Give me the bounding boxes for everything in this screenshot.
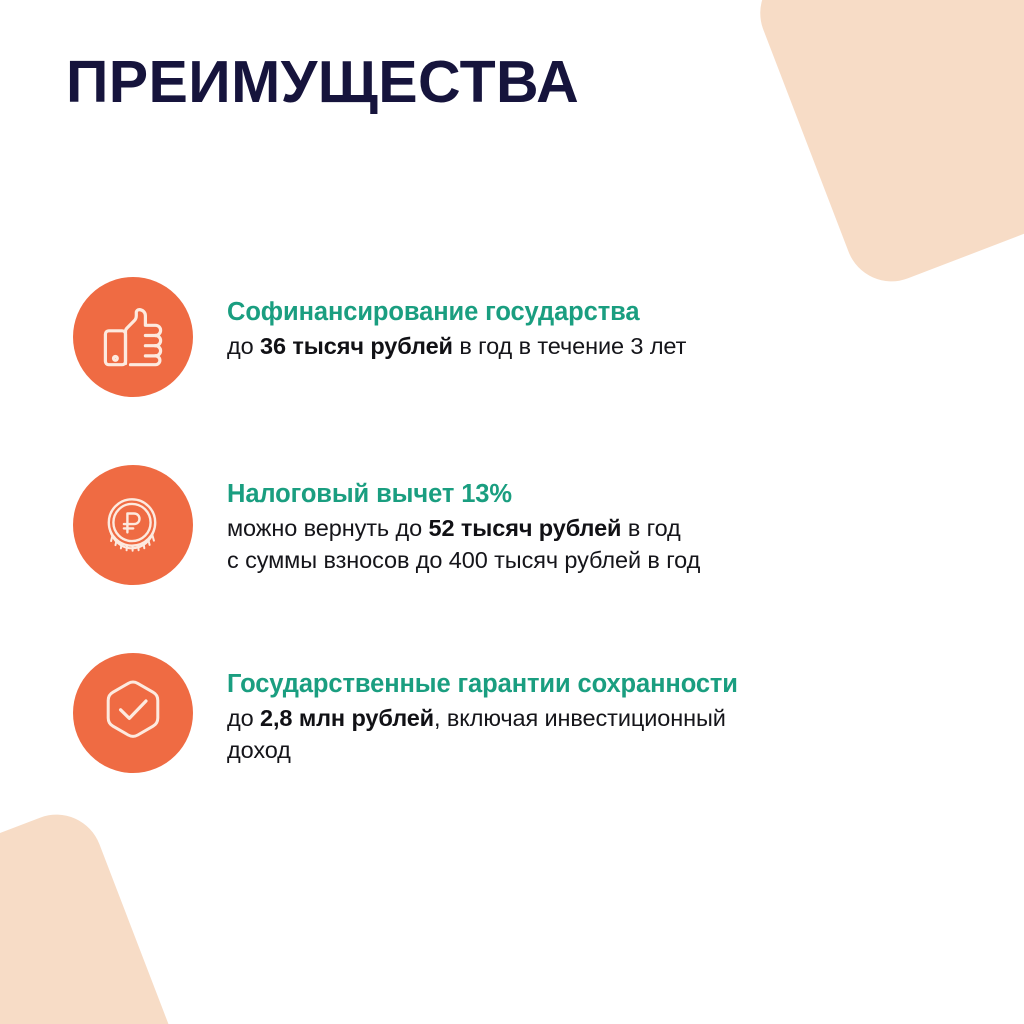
benefit-heading: Государственные гарантии сохранности bbox=[227, 669, 738, 700]
benefits-list: Софинансирование государства до 36 тысяч… bbox=[73, 277, 973, 773]
thumbs-up-icon bbox=[97, 301, 169, 373]
benefit-icon-badge bbox=[73, 277, 193, 397]
benefit-text-block: Софинансирование государства до 36 тысяч… bbox=[193, 277, 686, 363]
benefit-line: до 2,8 млн рублей, включая инвестиционны… bbox=[227, 703, 738, 735]
benefit-heading: Софинансирование государства bbox=[227, 297, 686, 328]
decor-bottom-left-shape bbox=[0, 801, 201, 1024]
decor-top-right-shape bbox=[747, 0, 1024, 295]
benefit-line: доход bbox=[227, 735, 738, 767]
benefit-item: Налоговый вычет 13% можно вернуть до 52 … bbox=[73, 465, 973, 585]
benefit-line: до 36 тысяч рублей в год в течение 3 лет bbox=[227, 331, 686, 363]
benefit-item: Софинансирование государства до 36 тысяч… bbox=[73, 277, 973, 397]
benefit-item: Государственные гарантии сохранности до … bbox=[73, 653, 973, 773]
slide-root: ПРЕИМУЩЕСТВА bbox=[0, 0, 1024, 1024]
benefit-line: можно вернуть до 52 тысяч рублей в год bbox=[227, 513, 700, 545]
shield-check-icon bbox=[97, 677, 169, 749]
page-title: ПРЕИМУЩЕСТВА bbox=[66, 52, 579, 114]
benefit-text-block: Государственные гарантии сохранности до … bbox=[193, 653, 738, 767]
benefit-line: с суммы взносов до 400 тысяч рублей в го… bbox=[227, 545, 700, 577]
benefit-text-block: Налоговый вычет 13% можно вернуть до 52 … bbox=[193, 465, 700, 577]
benefit-icon-badge bbox=[73, 465, 193, 585]
ruble-coin-icon bbox=[97, 489, 169, 561]
benefit-icon-badge bbox=[73, 653, 193, 773]
benefit-heading: Налоговый вычет 13% bbox=[227, 479, 700, 510]
